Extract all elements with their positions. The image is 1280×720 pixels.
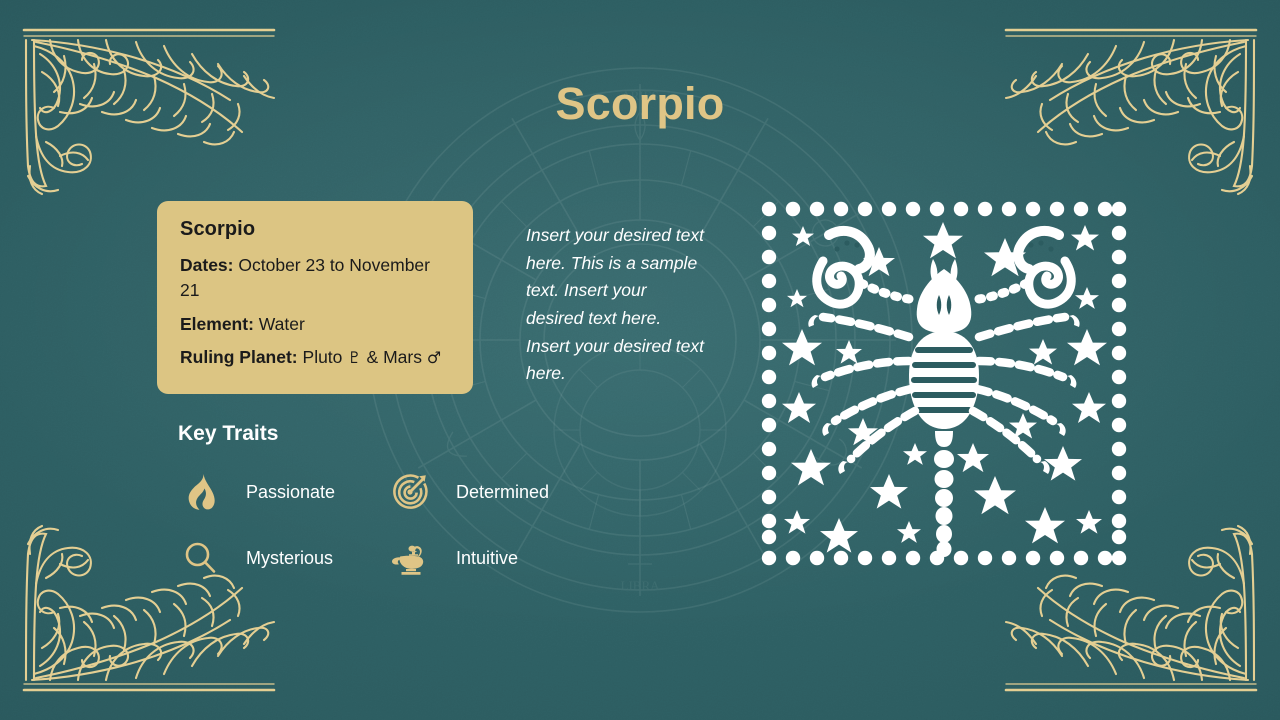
traits-row-1: Passionate Determined [178,470,598,514]
ruling-planet-label: Ruling Planet: [180,347,298,367]
zodiac-info-card: Scorpio Dates: October 23 to November 21… [157,201,473,394]
trait-determined: Determined [388,470,598,514]
trait-mysterious: Mysterious [178,536,388,580]
key-traits-list: Passionate Determined [178,470,598,602]
trait-label: Passionate [246,482,335,503]
element-value: Water [259,314,305,334]
trait-label: Mysterious [246,548,333,569]
svg-text:LIBRA: LIBRA [621,578,661,593]
trait-label: Intuitive [456,548,518,569]
trait-passionate: Passionate [178,470,388,514]
mars-name: Mars [383,347,422,367]
element-label: Element: [180,314,254,334]
card-row-ruling-planet: Ruling Planet: Pluto ♇ & Mars ♂ [180,345,453,370]
magnifier-icon [178,536,222,580]
mars-glyph-icon: ♂ [427,348,441,367]
card-row-dates: Dates: October 23 to November 21 [180,253,453,304]
dates-label: Dates: [180,255,234,275]
planet-conjunction: & [367,347,379,367]
sample-text-paragraph: Insert your desired text here. This is a… [526,222,706,388]
slide-canvas: ARIES LIBRA [0,0,1280,720]
oil-lamp-icon [388,536,432,580]
page-title: Scorpio [0,78,1280,130]
key-traits-heading: Key Traits [178,422,278,446]
card-heading: Scorpio [180,218,453,241]
trait-intuitive: Intuitive [388,536,598,580]
pluto-glyph-icon: ♇ [347,348,361,367]
target-arrow-icon [388,470,432,514]
pluto-name: Pluto [303,347,343,367]
scorpio-artwork [757,197,1131,570]
scorpion-figure [808,231,1079,557]
traits-row-2: Mysterious [178,536,598,580]
card-row-element: Element: Water [180,312,453,337]
trait-label: Determined [456,482,549,503]
flame-icon [178,470,222,514]
